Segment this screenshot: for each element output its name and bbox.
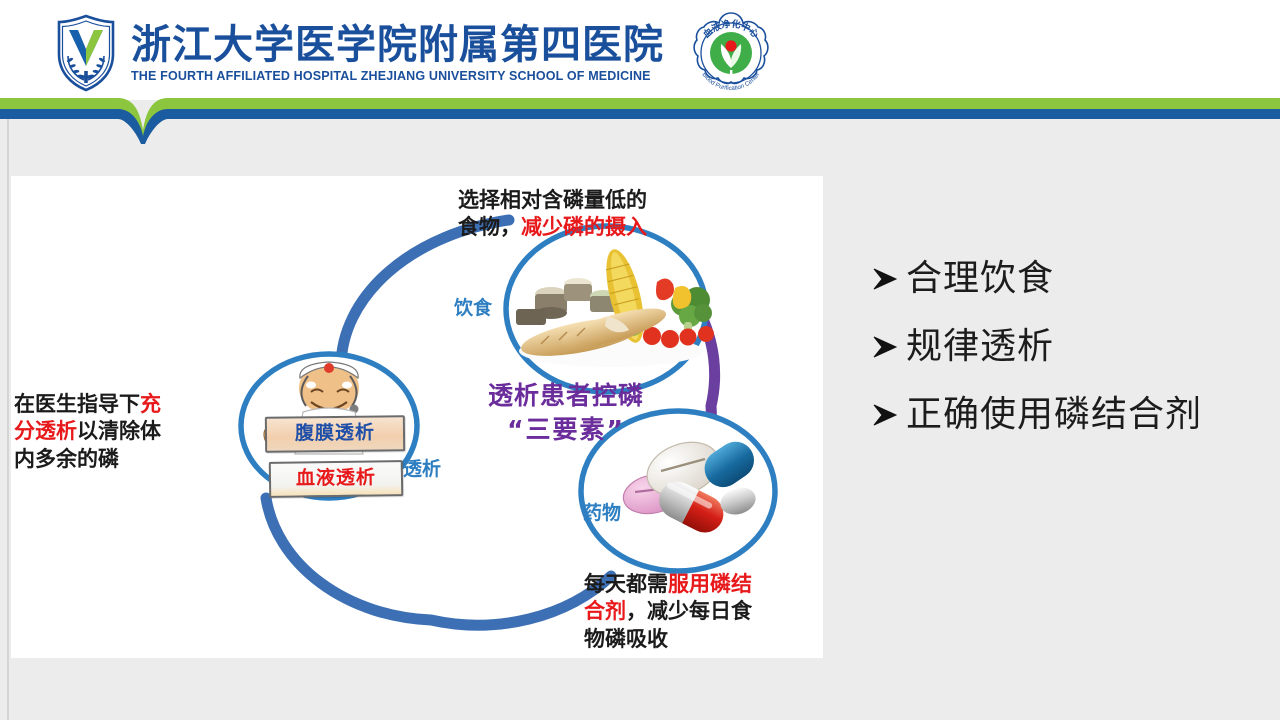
node-label-dialysis: 透析: [403, 454, 441, 481]
caption-diet-line1: 选择相对含磷量低的: [458, 187, 758, 214]
list-item[interactable]: 规律透析: [872, 320, 1272, 373]
caption-diet: 选择相对含磷量低的 食物，减少磷的摄入: [458, 187, 758, 242]
caption-dialysis-line1: 在医生指导下充: [14, 391, 229, 418]
list-item-label: 规律透析: [906, 329, 1054, 365]
key-points-list: 合理饮食 规律透析 正确使用磷结合剂: [872, 252, 1272, 456]
sign-hemodialysis: 血液透析: [269, 460, 403, 498]
sign-peritoneal-dialysis: 腹膜透析: [265, 415, 405, 452]
arrow-bullet-icon: [872, 404, 906, 426]
caption-dialysis-line2-plain: 以清除体: [77, 419, 161, 443]
list-item[interactable]: 正确使用磷结合剂: [872, 388, 1272, 441]
caption-drug-line1-plain: 每天都需: [584, 572, 668, 596]
slide: 浙江大学医学院附属第四医院 THE FOURTH AFFILIATED HOSP…: [0, 0, 1280, 720]
caption-diet-highlight: 减少磷的摄入: [521, 215, 647, 239]
caption-dialysis-line1-plain: 在医生指导下: [14, 392, 140, 416]
arrow-bullet-icon: [872, 268, 906, 290]
hospital-shield-logo: [55, 14, 117, 92]
arrow-bullet-icon: [872, 336, 906, 358]
caption-diet-line2: 食物，减少磷的摄入: [458, 214, 758, 241]
node-label-drug: 药物: [583, 498, 621, 525]
center-title-line1: 透析患者控磷: [443, 379, 689, 413]
caption-dialysis: 在医生指导下充 分透析以清除体 内多余的磷: [14, 391, 229, 473]
diet-node: [506, 226, 714, 392]
caption-drug-line1: 每天都需服用磷结: [584, 571, 823, 598]
caption-dialysis-hl2: 分透析: [14, 419, 77, 443]
hospital-name-cn: 浙江大学医学院附属第四医院: [131, 24, 664, 66]
list-item[interactable]: 合理饮食: [872, 252, 1272, 305]
caption-drug-line3: 物磷吸收: [584, 626, 823, 653]
hospital-name-block: 浙江大学医学院附属第四医院 THE FOURTH AFFILIATED HOSP…: [131, 24, 664, 83]
hospital-name-en: THE FOURTH AFFILIATED HOSPITAL ZHEJIANG …: [131, 69, 661, 83]
caption-diet-line2-plain: 食物，: [458, 215, 521, 239]
caption-drug-hl2: 合剂: [584, 599, 626, 623]
caption-drug-line2: 合剂，减少每日食: [584, 598, 823, 625]
left-edge-rule: [7, 116, 9, 720]
caption-drug: 每天都需服用磷结 合剂，减少每日食 物磷吸收: [584, 571, 823, 653]
diagram-center-title: 透析患者控磷 “三要素”: [443, 379, 689, 446]
phosphorus-control-figure: 饮食 透析 药物 腹膜透析 血液透析 透析患者控磷 “三要素” 选择相对含磷量低…: [11, 176, 823, 658]
header-branding: 浙江大学医学院附属第四医院 THE FOURTH AFFILIATED HOSP…: [55, 8, 776, 98]
list-item-label: 正确使用磷结合剂: [906, 397, 1202, 433]
caption-dialysis-line2: 分透析以清除体: [14, 418, 229, 445]
blood-purification-center-seal: 血液净化中心 Blood Purification Center: [686, 8, 776, 98]
caption-drug-line2-plain: ，减少每日食: [626, 599, 752, 623]
node-label-diet: 饮食: [454, 293, 492, 320]
slide-header: 浙江大学医学院附属第四医院 THE FOURTH AFFILIATED HOSP…: [0, 0, 1280, 100]
decorative-wave-band: [0, 92, 1280, 144]
list-item-label: 合理饮食: [906, 261, 1054, 297]
center-title-line2: “三要素”: [443, 413, 689, 447]
caption-dialysis-line3: 内多余的磷: [14, 446, 229, 473]
caption-drug-hl1: 服用磷结: [668, 572, 752, 596]
caption-dialysis-hl1: 充: [140, 392, 161, 416]
